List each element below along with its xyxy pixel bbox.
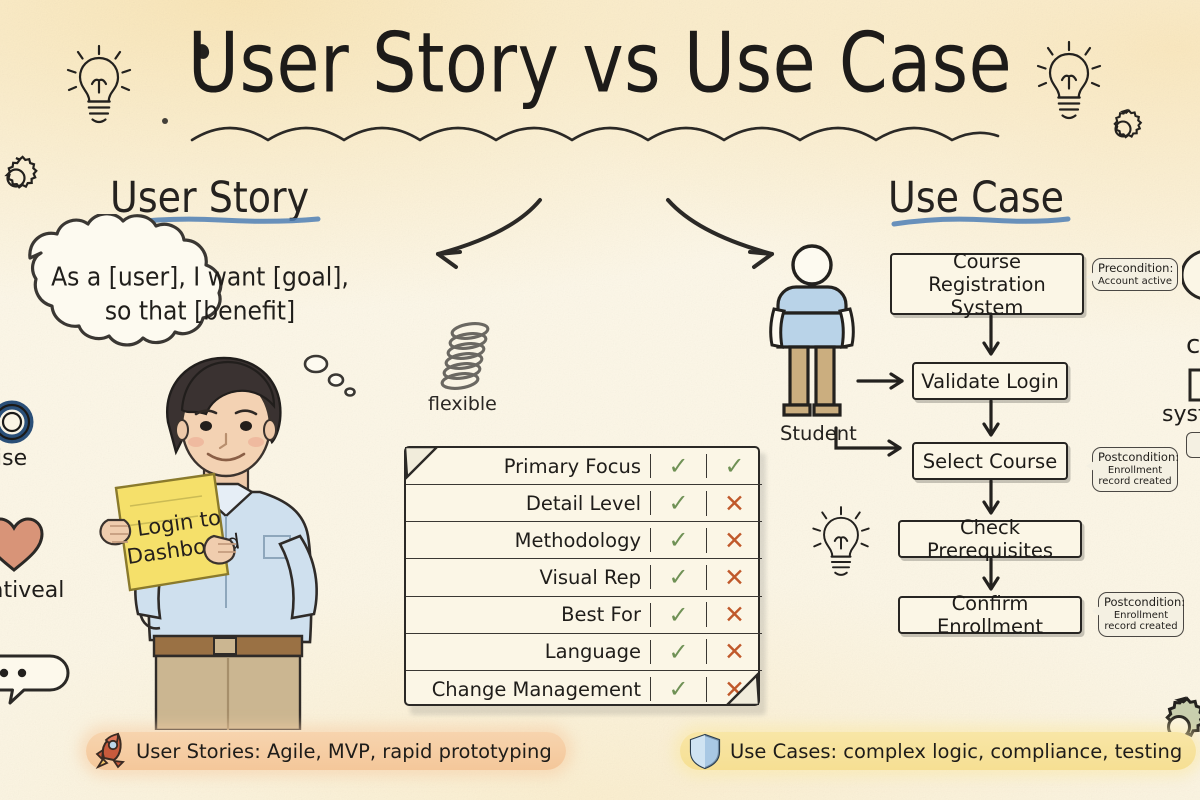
table-cell-user-story-yes: ✓ (650, 528, 706, 552)
cropped-oval-shape (1182, 248, 1200, 302)
flow-arrow-select-to-prereq (978, 479, 1004, 523)
actor-to-select-arrow (834, 424, 914, 468)
flow-arrow-prereq-to-confirm (978, 557, 1004, 599)
table-cell-use-case-yes: ✓ (706, 454, 762, 478)
page-title: User Story vs Use Case (0, 22, 1200, 105)
arrow-to-user-story (420, 196, 550, 276)
cropped-callout-shape (1186, 432, 1200, 458)
table-row: Best For✓✕ (406, 597, 762, 634)
thought-cloud-text: As a [user], I want [goal], so that [ben… (4, 260, 396, 328)
callout-postcondition-confirm-title: Postcondition: (1104, 596, 1178, 610)
banner-use-cases-text: Use Cases: complex logic, compliance, te… (730, 740, 1182, 763)
flow-arrow-validate-to-select (978, 399, 1004, 445)
gear-icon (1100, 106, 1146, 152)
comparison-table-card: Primary Focus✓✓Detail Level✓✕Methodology… (404, 446, 764, 712)
flow-box-course-registration-system[interactable]: Course Registration System (890, 253, 1084, 315)
table-row: Primary Focus✓✓ (406, 448, 762, 485)
spring-icon (430, 320, 500, 402)
callout-postcondition-select-title: Postcondition: (1098, 451, 1172, 465)
table-cell-user-story-yes: ✓ (650, 491, 706, 515)
table-cell-use-case-no: ✕ (706, 639, 762, 664)
table-row: Language✓✕ (406, 634, 762, 671)
person-illustration: Login to Dashboard (96, 330, 396, 730)
gear-icon (0, 152, 42, 204)
spring-label: flexible (428, 393, 497, 415)
table-row-label: Change Management (406, 678, 650, 701)
page-fold-bottom-right (725, 671, 759, 705)
table-row: Methodology✓✕ (406, 522, 762, 559)
table-cell-user-story-yes: ✓ (650, 640, 706, 664)
heart-icon (0, 508, 50, 580)
rocket-icon (92, 732, 130, 770)
table-cell-use-case-no: ✕ (706, 565, 762, 590)
cropped-text-fragment-right-letter: c (1186, 330, 1200, 360)
actor-student-figure (766, 243, 858, 423)
flow-box-select-course[interactable]: Select Course (912, 442, 1068, 480)
banner-use-cases: Use Cases: complex logic, compliance, te… (680, 732, 1196, 770)
banner-user-stories: User Stories: Agile, MVP, rapid prototyp… (86, 732, 566, 770)
table-row-label: Detail Level (406, 492, 650, 515)
callout-precondition: Precondition: Account active (1092, 258, 1178, 291)
table-row-label: Methodology (406, 529, 650, 552)
flow-box-validate-login[interactable]: Validate Login (912, 362, 1068, 400)
table-row-label: Visual Rep (406, 566, 650, 589)
title-container: User Story vs Use Case (0, 22, 1200, 92)
table-cell-use-case-no: ✕ (706, 528, 762, 553)
table-cell-use-case-no: ✕ (706, 491, 762, 516)
table-cell-user-story-yes: ✓ (650, 454, 706, 478)
table-row-label: Language (406, 640, 650, 663)
title-underline-squiggle (186, 112, 1016, 152)
thought-cloud-line-2: so that [benefit] (4, 294, 396, 328)
page-fold-top-left (405, 447, 439, 481)
thought-cloud-line-1: As a [user], I want [goal], (4, 260, 396, 294)
cropped-text-fragment-left-upper: ise (0, 446, 27, 471)
callout-postcondition-select: Postcondition: Enrollment record created (1092, 447, 1178, 492)
table-cell-user-story-yes: ✓ (650, 677, 706, 701)
flow-box-check-prerequisites[interactable]: Check Prerequisites (898, 520, 1082, 558)
cropped-box-shape (1186, 368, 1200, 402)
speech-bubble-icon (0, 648, 90, 728)
table-row-label: Primary Focus (406, 455, 650, 478)
table-row-label: Best For (406, 603, 650, 626)
callout-postcondition-confirm-body: Enrollment record created (1104, 610, 1178, 634)
callout-precondition-title: Precondition: (1098, 262, 1172, 276)
use-case-heading-underline (886, 214, 1076, 230)
table-cell-user-story-yes: ✓ (650, 565, 706, 589)
callout-postcondition-confirm: Postcondition: Enrollment record created (1098, 592, 1184, 637)
lightbulb-icon (808, 498, 874, 584)
table-row: Change Management✓✕ (406, 671, 762, 708)
callout-precondition-body: Account active (1098, 276, 1172, 288)
actor-to-validate-arrow (856, 368, 914, 394)
cropped-text-fragment-left-lower: ativeal (0, 578, 64, 603)
comparison-table-rows: Primary Focus✓✓Detail Level✓✕Methodology… (406, 448, 762, 708)
table-cell-user-story-yes: ✓ (650, 603, 706, 627)
ink-dot (162, 118, 168, 124)
banner-user-stories-text: User Stories: Agile, MVP, rapid prototyp… (136, 740, 552, 763)
blob-icon (0, 370, 36, 414)
comparison-table: Primary Focus✓✓Detail Level✓✕Methodology… (404, 446, 760, 706)
flow-arrow-system-to-validate (978, 314, 1004, 364)
callout-postcondition-select-body: Enrollment record created (1098, 465, 1172, 489)
cropped-text-fragment-right-word: syste (1162, 402, 1200, 427)
table-cell-use-case-no: ✕ (706, 602, 762, 627)
infographic-canvas: User Story vs Use Case User Story Use Ca… (0, 0, 1200, 800)
shield-icon (686, 732, 724, 770)
flow-box-confirm-enrollment[interactable]: Confirm Enrollment (898, 596, 1082, 634)
table-row: Detail Level✓✕ (406, 485, 762, 522)
table-row: Visual Rep✓✕ (406, 559, 762, 596)
